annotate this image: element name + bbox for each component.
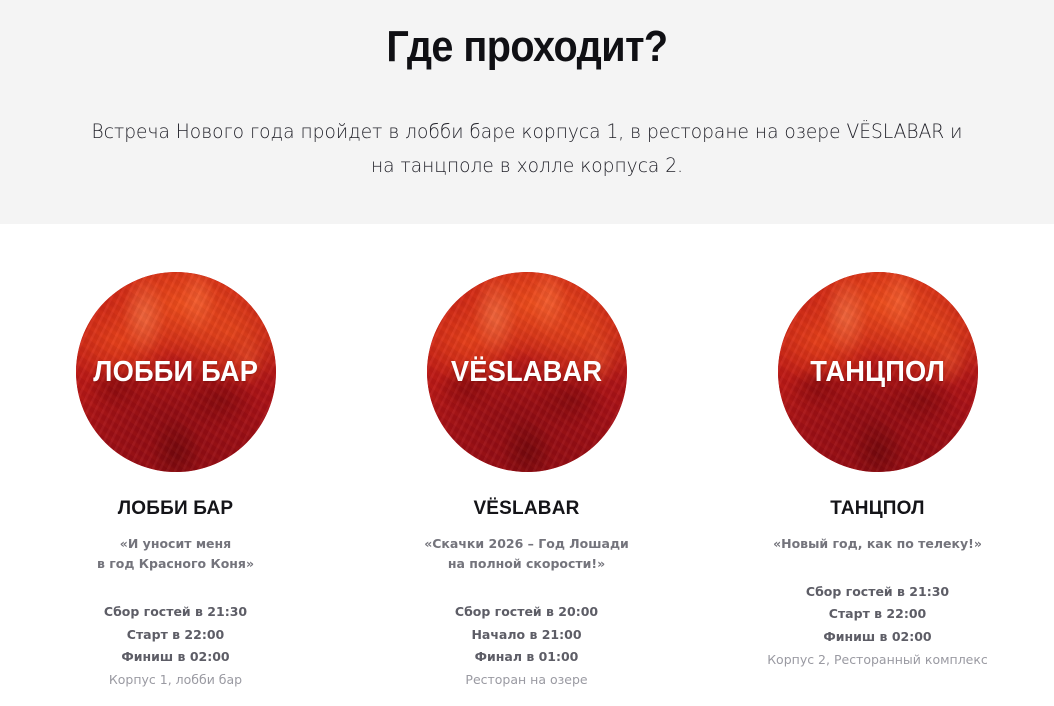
venue-schedule-line: Начало в 21:00 [455,624,598,646]
venue-cards-row: ЛОББИ БАРЛОББИ БАР«И уносит меняв год Кр… [0,224,1054,691]
venue-schedule-line: Сбор гостей в 21:30 [104,601,247,623]
venue-schedule-line: Финиш в 02:00 [806,626,949,648]
venue-location: Корпус 2, Ресторанный комплекс [767,648,988,671]
venue-tagline-line: в год Красного Коня» [97,554,254,574]
venue-schedule: Сбор гостей в 21:30Старт в 22:00Финиш в … [104,574,247,668]
venue-name: ЛОББИ БАР [118,472,234,521]
venue-badge-label: ТАНЦПОЛ [810,358,945,387]
venue-schedule-line: Старт в 22:00 [806,603,949,625]
venue-badge-label: ЛОББИ БАР [93,358,258,387]
venue-location: Ресторан на озере [465,668,587,691]
venue-tagline: «Новый год, как по телеку!» [773,521,982,554]
venue-location: Корпус 1, лобби бар [109,668,242,691]
venue-card[interactable]: ТАНЦПОЛТАНЦПОЛ«Новый год, как по телеку!… [702,272,1053,691]
venue-schedule: Сбор гостей в 20:00Начало в 21:00Финал в… [455,574,598,668]
page-title: Где проходит? [53,0,1002,71]
venue-schedule-line: Финиш в 02:00 [104,646,247,668]
venue-tagline: «И уносит меняв год Красного Коня» [97,521,254,575]
venue-card[interactable]: ЛОББИ БАРЛОББИ БАР«И уносит меняв год Кр… [0,272,351,691]
venue-badge-circle[interactable]: ТАНЦПОЛ [778,272,978,472]
venue-tagline-line: «Новый год, как по телеку!» [773,534,982,554]
venue-badge-circle[interactable]: VËSLABAR [427,272,627,472]
venue-schedule-line: Сбор гостей в 21:30 [806,581,949,603]
header-band: Где проходит? Встреча Нового года пройде… [0,0,1054,224]
venue-schedule-line: Финал в 01:00 [455,646,598,668]
venue-name: ТАНЦПОЛ [830,472,924,521]
venue-schedule-line: Старт в 22:00 [104,624,247,646]
header-subtitle: Встреча Нового года пройдет в лобби баре… [24,71,1031,183]
venue-tagline-line: «И уносит меня [97,534,254,554]
venue-tagline-line: на полной скорости!» [424,554,629,574]
venue-tagline-line: «Скачки 2026 – Год Лошади [424,534,629,554]
venue-schedule-line: Сбор гостей в 20:00 [455,601,598,623]
venue-name: VËSLABAR [473,472,579,521]
venue-badge-circle[interactable]: ЛОББИ БАР [76,272,276,472]
venue-badge-label: VËSLABAR [451,358,602,387]
venue-tagline: «Скачки 2026 – Год Лошадина полной скоро… [424,521,629,575]
venue-card[interactable]: VËSLABARVËSLABAR«Скачки 2026 – Год Лошад… [351,272,702,691]
venue-schedule: Сбор гостей в 21:30Старт в 22:00Финиш в … [806,554,949,648]
